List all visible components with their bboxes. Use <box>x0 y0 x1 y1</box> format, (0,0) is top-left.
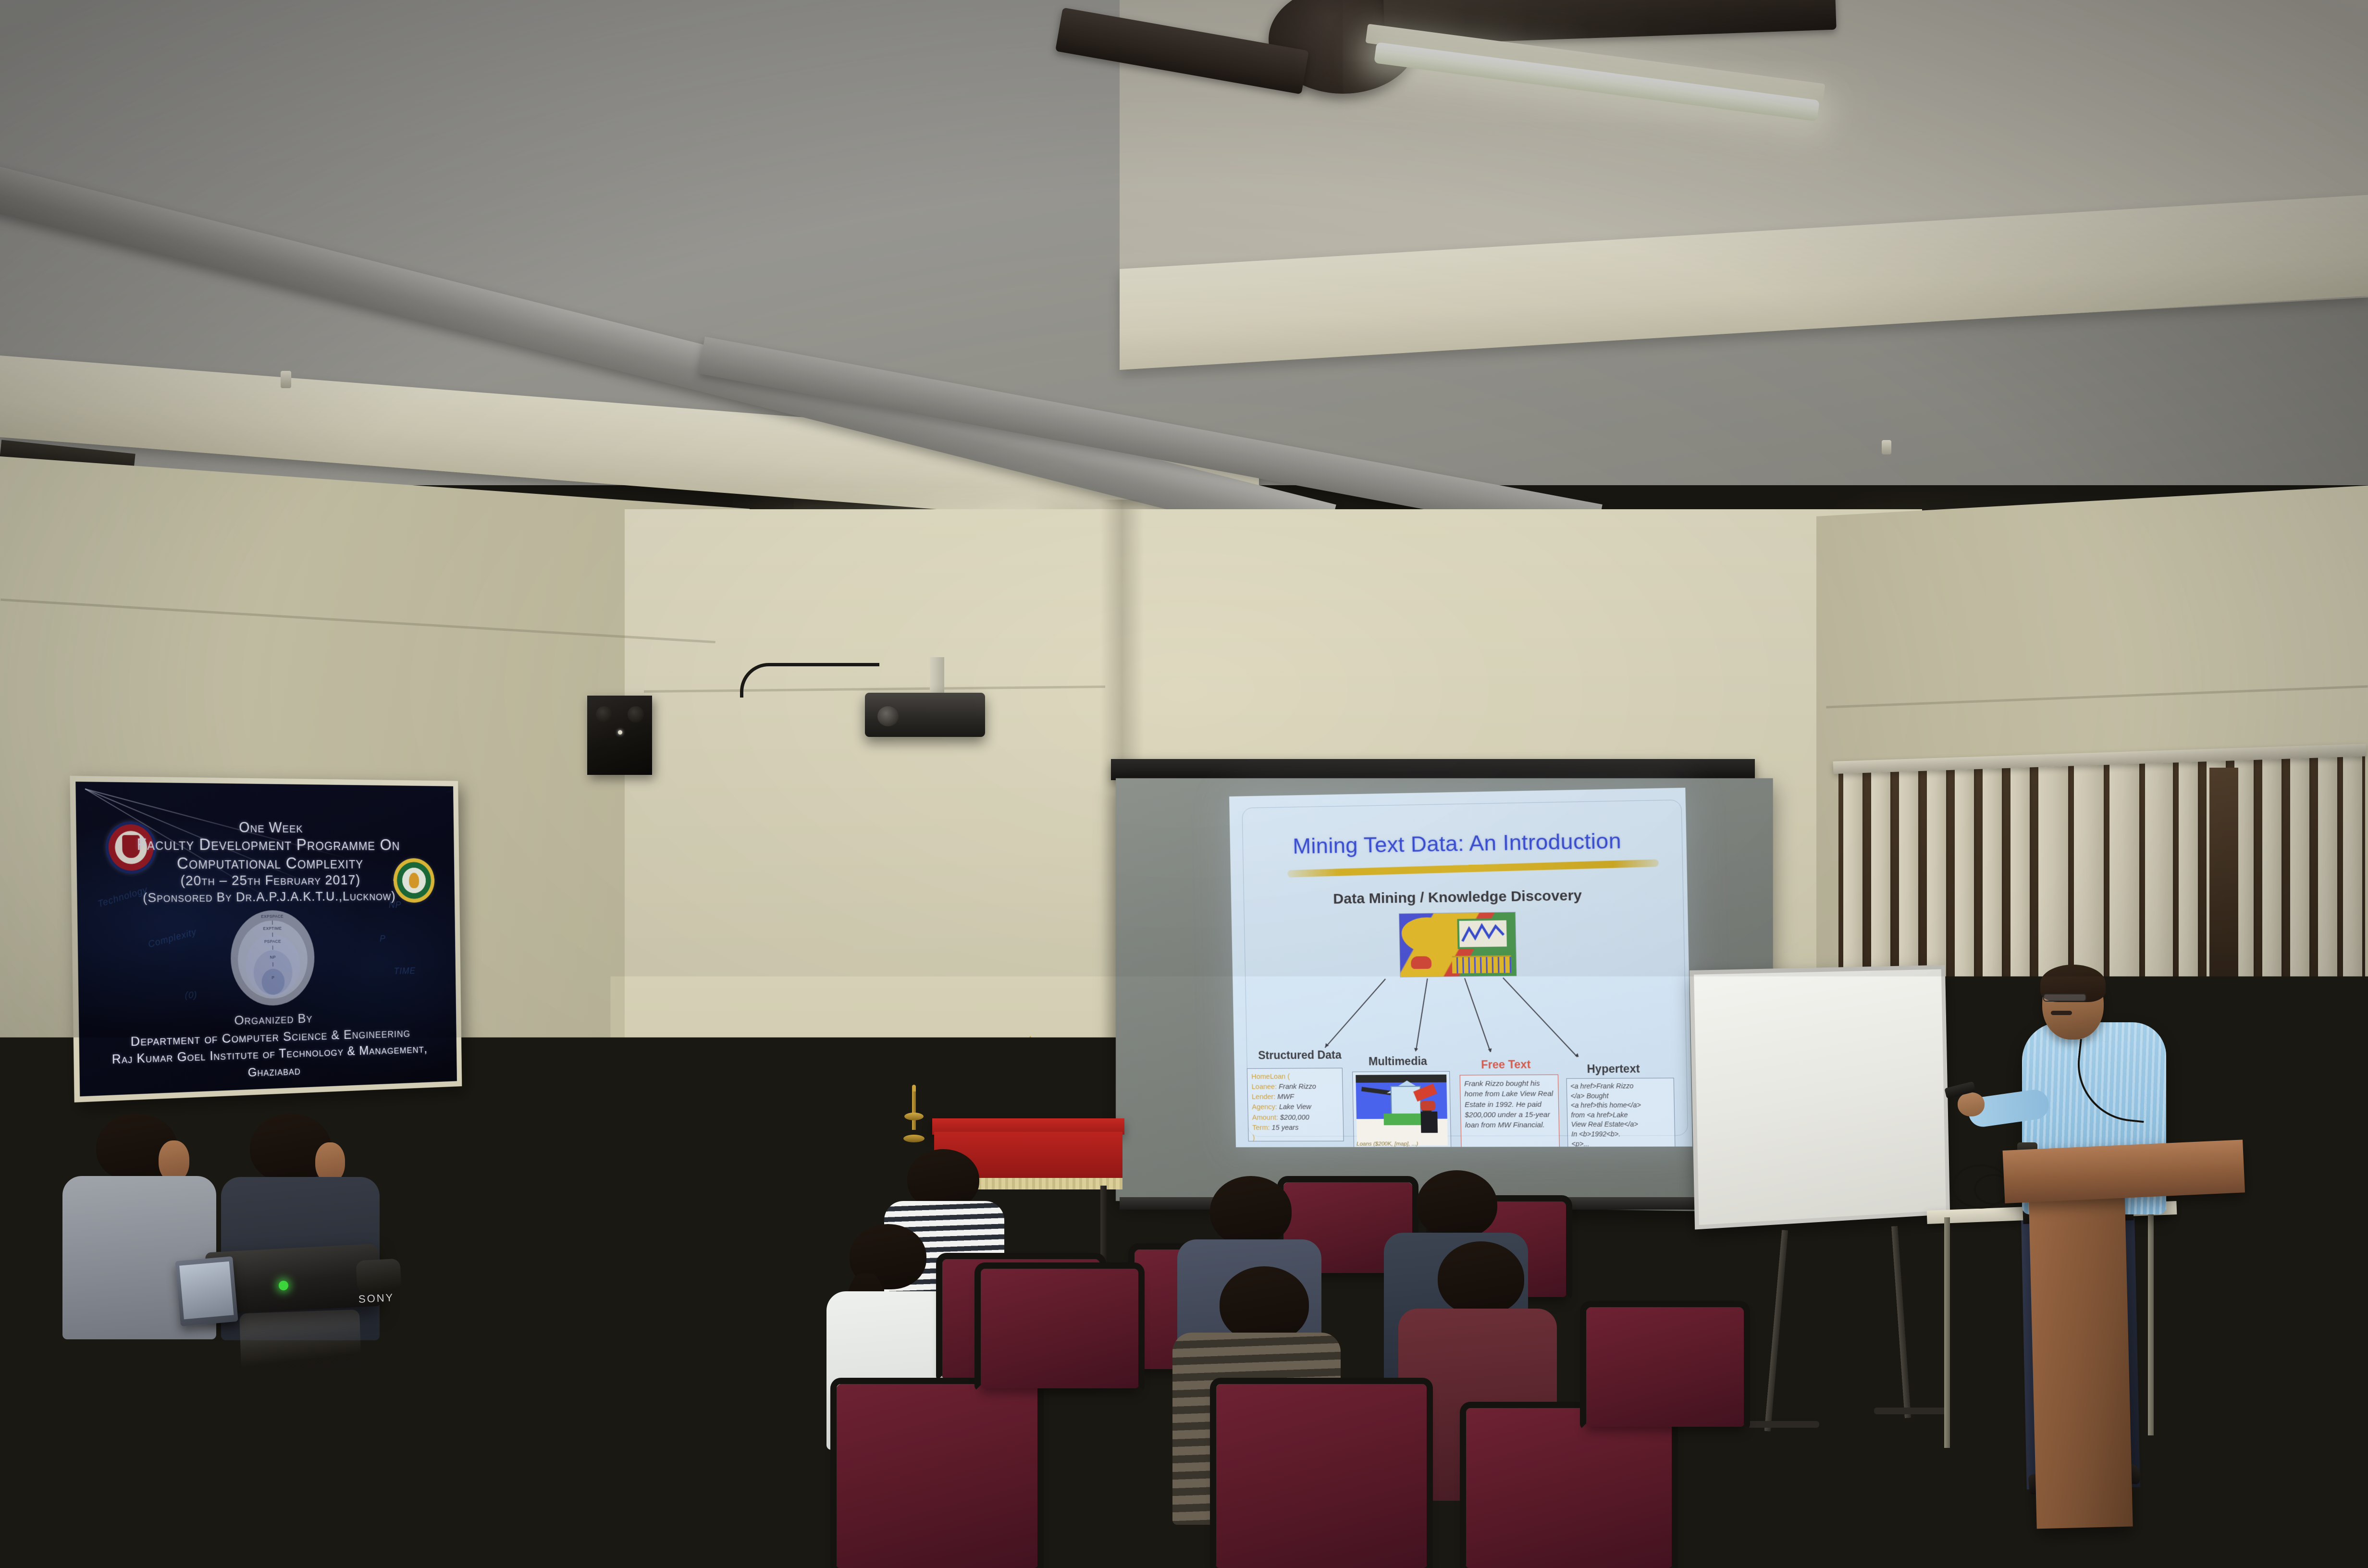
structured-value-1: MWF <box>1277 1093 1294 1101</box>
structured-key-0: Loanee: <box>1251 1083 1277 1091</box>
event-banner: One Week Faculty Development Programme O… <box>70 776 462 1102</box>
structured-footer: ) <box>1252 1134 1255 1141</box>
free-text-content: Frank Rizzo bought his home from Lake Vi… <box>1460 1075 1559 1134</box>
hypertext-box: <a href>Frank Rizzo </a> Bought <a href>… <box>1566 1078 1676 1148</box>
banner-ghost-word-3: NP <box>389 900 401 910</box>
banner-ghost-word-5: TIME <box>394 966 416 977</box>
wall-speaker <box>587 696 652 775</box>
structured-value-4: 15 years <box>1271 1124 1298 1132</box>
banner-ghost-word-2: Complexity <box>147 927 197 950</box>
category-label-hypertext: Hypertext <box>1587 1062 1640 1076</box>
saraswati-idol <box>1004 1033 1056 1124</box>
banner-line-2: Faculty Development Programme On <box>76 834 454 854</box>
podium-top <box>2003 1139 2245 1203</box>
camera-lcd-screen[interactable] <box>175 1256 238 1326</box>
multimedia-caption: Loans ($200K, [map], ...) <box>1357 1141 1418 1147</box>
audience-person-glasses <box>794 1275 820 1282</box>
idol-crown <box>1022 1036 1039 1053</box>
speaker-mustache <box>2051 1011 2072 1015</box>
structured-header: HomeLoan ( <box>1251 1073 1290 1080</box>
presentation-slide: Mining Text Data: An Introduction Data M… <box>1229 788 1692 1147</box>
banner-line-1: One Week <box>76 818 454 837</box>
multimedia-box: Loans ($200K, [map], ...) <box>1352 1071 1451 1147</box>
structured-data-box: HomeLoan ( Loanee: Frank Rizzo Lender: M… <box>1247 1068 1344 1141</box>
banner-ghost-word-6: (0) <box>185 990 197 1001</box>
category-label-multimedia: Multimedia <box>1369 1055 1427 1068</box>
hypertext-line-0: <a href>Frank Rizzo <box>1570 1081 1670 1091</box>
cx-label-p: P <box>271 975 274 980</box>
brass-oil-lamp <box>903 1085 925 1142</box>
banner-ghost-word-4: P <box>380 934 386 944</box>
complexity-class-diagram: EXPSPACE EXPTIME PSPACE NP P <box>228 910 317 1010</box>
banner-line-4: (20th – 25th February 2017) <box>77 872 455 890</box>
projector-mount <box>930 657 944 696</box>
cx-label-exptime: EXPTIME <box>263 926 282 931</box>
whiteboard <box>1690 965 1950 1230</box>
cx-label-expspace: EXPSPACE <box>261 914 284 919</box>
arrow-head-multimedia <box>1414 1048 1418 1052</box>
speaker-hand <box>1958 1092 1985 1116</box>
speaker-glasses <box>2043 993 2086 1002</box>
structured-key-2: Agency: <box>1252 1103 1277 1111</box>
cx-label-np: NP <box>270 955 276 960</box>
hypertext-line-1: </a> Bought <box>1570 1091 1670 1101</box>
multimedia-clipart-icon <box>1356 1075 1448 1146</box>
camera-viewfinder <box>356 1259 401 1293</box>
structured-value-2: Lake View <box>1279 1103 1311 1111</box>
chair-back-1[interactable] <box>668 1124 793 1211</box>
structured-key-4: Term: <box>1252 1124 1270 1132</box>
ceiling-hook <box>281 371 291 388</box>
chart-zigzag-icon <box>1461 922 1505 944</box>
category-label-structured-data: Structured Data <box>1258 1049 1342 1062</box>
category-label-free-text: Free Text <box>1481 1058 1531 1071</box>
structured-value-0: Frank Rizzo <box>1279 1083 1316 1090</box>
free-text-box: Frank Rizzo bought his home from Lake Vi… <box>1460 1075 1560 1148</box>
projector-lens <box>877 706 899 726</box>
hypertext-line-4: View Real Estate</a> <box>1571 1120 1671 1130</box>
projection-screen-frame <box>1111 759 1755 780</box>
camera-recording-led <box>279 1281 288 1290</box>
cx-label-pspace: PSPACE <box>264 939 281 944</box>
structured-key-3: Amount: <box>1252 1114 1278 1121</box>
ceiling-hook-2 <box>1882 440 1891 454</box>
structured-key-1: Lender: <box>1252 1093 1276 1101</box>
hypertext-line-5: In <b>1992<b>. <box>1571 1129 1671 1139</box>
camera-brand-label: SONY <box>358 1291 395 1306</box>
floor <box>0 1355 2368 1568</box>
seminar-hall-photo: One Week Faculty Development Programme O… <box>0 0 2368 1568</box>
data-mining-clipart-icon <box>1399 912 1517 977</box>
banner-line-3: Computational Complexity <box>76 854 454 873</box>
projector-cable <box>740 663 879 698</box>
hypertext-line-2: <a href>this home</a> <box>1571 1101 1671 1111</box>
structured-value-3: $200,000 <box>1280 1114 1309 1121</box>
hypertext-line-6: <p>... <box>1571 1139 1671 1147</box>
hypertext-line-3: from <a href>Lake <box>1571 1110 1671 1120</box>
window-strip-far-right <box>2209 768 2238 1017</box>
